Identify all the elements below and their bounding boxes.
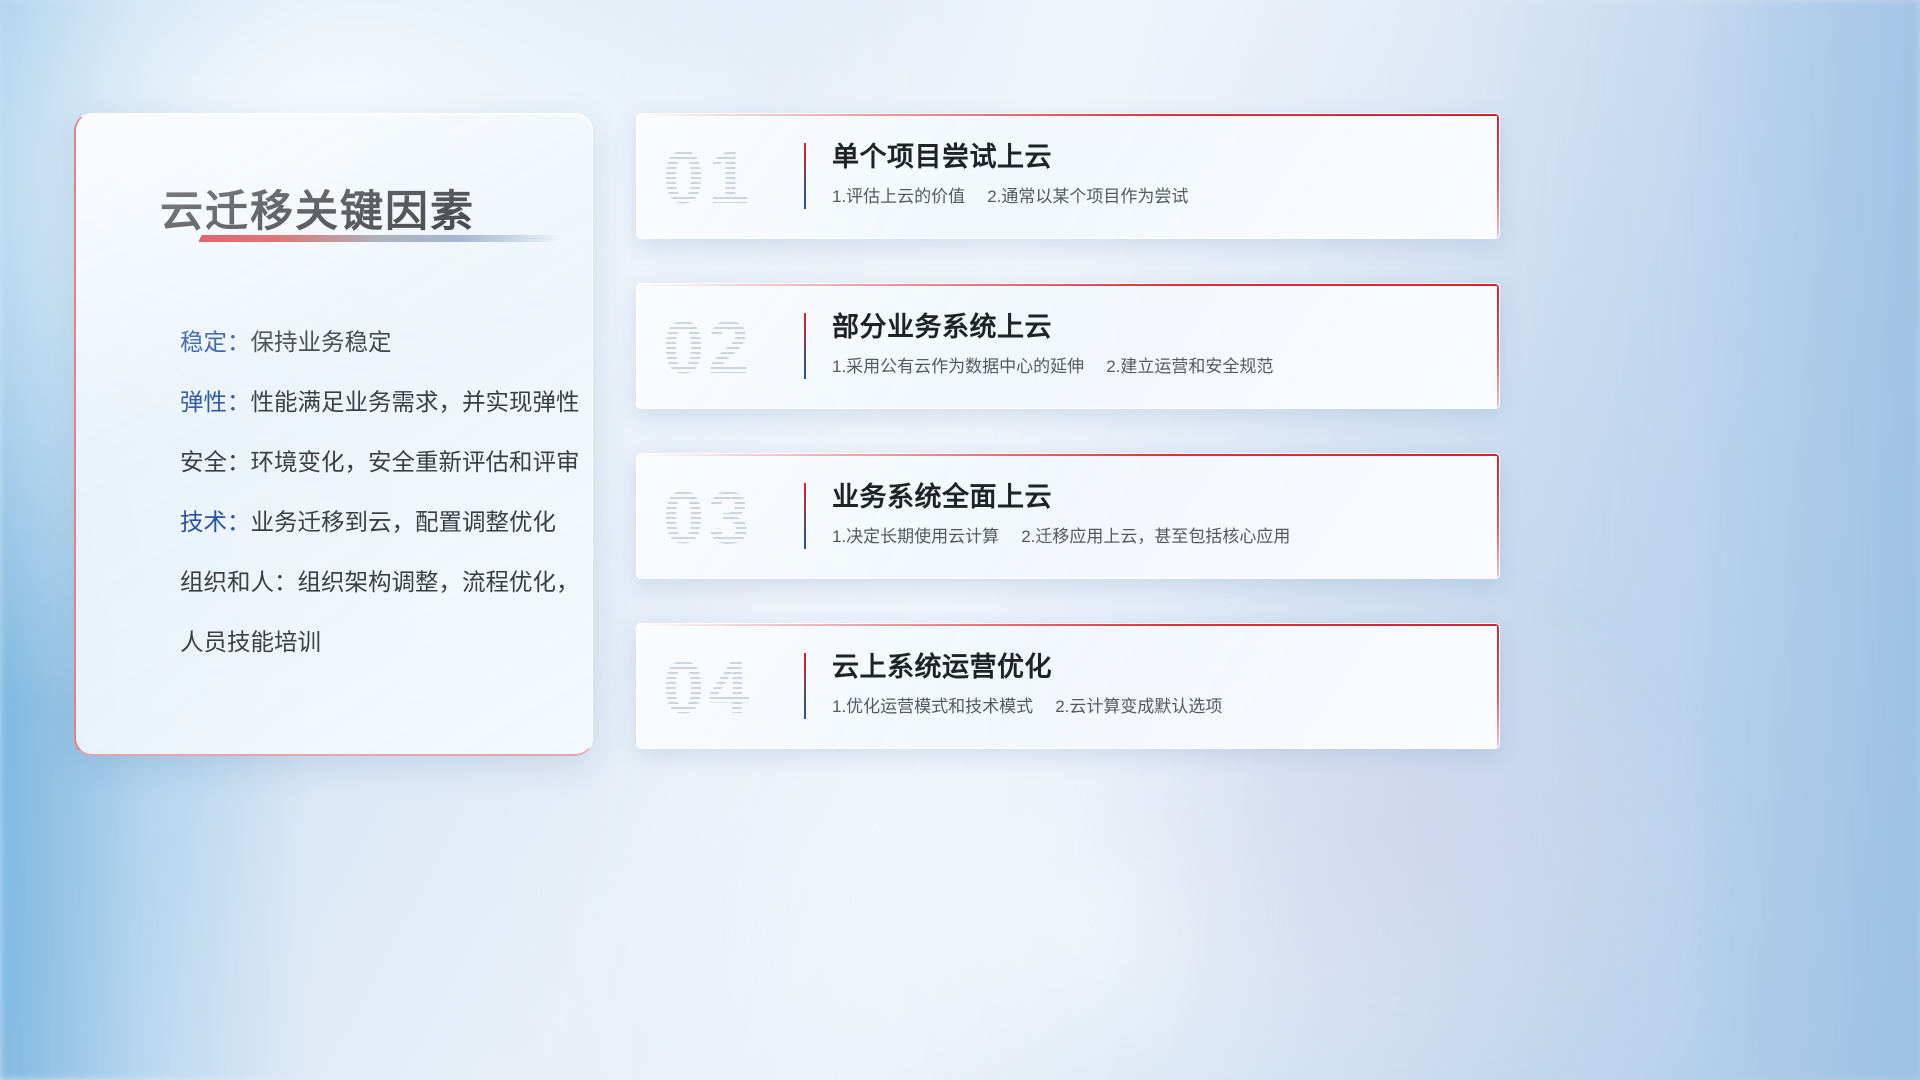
key-factor-item: 技术：业务迁移到云，配置调整优化: [180, 492, 566, 552]
stage-number: 04: [663, 632, 753, 744]
key-factors-card: 云迁移关键因素 稳定：保持业务稳定弹性：性能满足业务需求，并实现弹性安全：环境变…: [74, 113, 593, 756]
stage-body: 单个项目尝试上云1.评估上云的价值2.通常以某个项目作为尝试: [832, 138, 1475, 209]
stage-points: 1.优化运营模式和技术模式2.云计算变成默认选项: [832, 695, 1475, 719]
key-factor-text: 保持业务稳定: [251, 329, 392, 355]
key-factors-list: 稳定：保持业务稳定弹性：性能满足业务需求，并实现弹性安全：环境变化，安全重新评估…: [180, 312, 566, 672]
key-factor-label: 技术：: [180, 509, 251, 535]
key-factor-label: 弹性：: [180, 389, 251, 415]
stage-title: 云上系统运营优化: [832, 648, 1475, 686]
stage-point: 2.云计算变成默认选项: [1055, 697, 1222, 716]
stage-divider-accent: [804, 483, 806, 549]
stage-point: 1.采用公有云作为数据中心的延伸: [832, 357, 1084, 376]
stage-point: 1.评估上云的价值: [832, 187, 965, 206]
stage-point: 2.通常以某个项目作为尝试: [987, 187, 1188, 206]
stage-title: 业务系统全面上云: [832, 478, 1475, 516]
key-factor-text: 组织架构调整，流程优化，: [298, 569, 580, 595]
key-factor-item: 组织和人：组织架构调整，流程优化，: [180, 552, 566, 612]
stage-point: 1.优化运营模式和技术模式: [832, 697, 1033, 716]
title-underline-accent: [198, 235, 561, 242]
stage-body: 部分业务系统上云1.采用公有云作为数据中心的延伸2.建立运营和安全规范: [832, 308, 1475, 379]
stage-card-04[interactable]: 04云上系统运营优化1.优化运营模式和技术模式2.云计算变成默认选项: [636, 623, 1500, 749]
key-factor-text: 人员技能培训: [180, 629, 321, 655]
stage-title: 单个项目尝试上云: [832, 138, 1475, 176]
stage-number: 02: [663, 292, 753, 404]
key-factor-text: 环境变化，安全重新评估和评审: [251, 449, 580, 475]
key-factor-text: 性能满足业务需求，并实现弹性: [251, 389, 580, 415]
stage-point: 2.建立运营和安全规范: [1106, 357, 1273, 376]
key-factor-text: 业务迁移到云，配置调整优化: [251, 509, 557, 535]
key-factor-label: 组织和人：: [180, 569, 298, 595]
stage-number: 01: [663, 122, 753, 234]
key-factor-label: 安全：: [180, 449, 251, 475]
stage-body: 云上系统运营优化1.优化运营模式和技术模式2.云计算变成默认选项: [832, 648, 1475, 719]
stages-column: 01单个项目尝试上云1.评估上云的价值2.通常以某个项目作为尝试02部分业务系统…: [636, 113, 1500, 793]
stage-card-02[interactable]: 02部分业务系统上云1.采用公有云作为数据中心的延伸2.建立运营和安全规范: [636, 283, 1500, 409]
stage-card-03[interactable]: 03业务系统全面上云1.决定长期使用云计算2.迁移应用上云，甚至包括核心应用: [636, 453, 1500, 579]
stage-number: 03: [663, 462, 753, 574]
key-factor-item: 安全：环境变化，安全重新评估和评审: [180, 432, 566, 492]
stage-points: 1.决定长期使用云计算2.迁移应用上云，甚至包括核心应用: [832, 525, 1475, 549]
stage-card-01[interactable]: 01单个项目尝试上云1.评估上云的价值2.通常以某个项目作为尝试: [636, 113, 1500, 239]
key-factor-item: 稳定：保持业务稳定: [180, 312, 566, 372]
page-title: 云迁移关键因素: [160, 177, 475, 239]
key-factor-item: 弹性：性能满足业务需求，并实现弹性: [180, 372, 566, 432]
stage-point: 1.决定长期使用云计算: [832, 527, 999, 546]
stage-point: 2.迁移应用上云，甚至包括核心应用: [1021, 527, 1290, 546]
key-factor-item: 人员技能培训: [180, 612, 566, 672]
stage-title: 部分业务系统上云: [832, 308, 1475, 346]
key-factor-label: 稳定：: [180, 329, 251, 355]
stage-points: 1.采用公有云作为数据中心的延伸2.建立运营和安全规范: [832, 355, 1475, 379]
stage-body: 业务系统全面上云1.决定长期使用云计算2.迁移应用上云，甚至包括核心应用: [832, 478, 1475, 549]
stage-divider-accent: [804, 313, 806, 379]
stage-divider-accent: [804, 143, 806, 209]
stage-points: 1.评估上云的价值2.通常以某个项目作为尝试: [832, 185, 1475, 209]
stage-divider-accent: [804, 653, 806, 719]
